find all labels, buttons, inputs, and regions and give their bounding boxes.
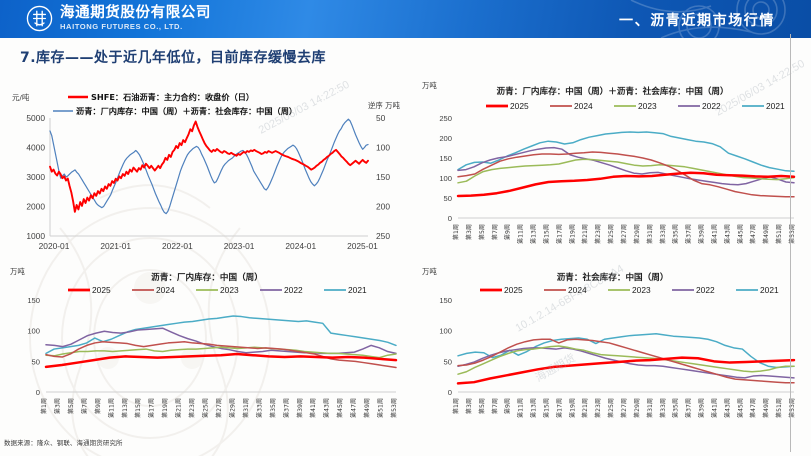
svg-text:第41周: 第41周 — [309, 398, 317, 418]
svg-text:2023: 2023 — [632, 285, 651, 295]
svg-text:第11周: 第11周 — [517, 224, 525, 244]
svg-text:100: 100 — [376, 143, 390, 153]
svg-text:沥青：厂内库存：中国（周）: 沥青：厂内库存：中国（周） — [151, 271, 263, 283]
svg-text:第11周: 第11周 — [517, 398, 525, 418]
svg-text:第19周: 第19周 — [568, 224, 576, 244]
svg-text:第43周: 第43周 — [323, 398, 331, 418]
svg-text:第5周: 第5周 — [478, 224, 486, 240]
svg-text:第9周: 第9周 — [504, 224, 512, 240]
svg-text:2021-01: 2021-01 — [100, 241, 131, 251]
svg-text:第1周: 第1周 — [452, 224, 460, 240]
svg-text:第15周: 第15周 — [542, 398, 550, 418]
svg-text:第39周: 第39周 — [296, 398, 304, 418]
svg-text:第17周: 第17周 — [148, 398, 156, 418]
svg-text:第15周: 第15周 — [134, 398, 142, 418]
svg-text:150: 150 — [439, 154, 452, 163]
svg-text:第51周: 第51周 — [775, 224, 783, 244]
svg-text:海通期货: 海通期货 — [533, 350, 578, 384]
svg-text:2020-01: 2020-01 — [39, 241, 70, 251]
svg-text:第47周: 第47周 — [350, 398, 358, 418]
svg-text:第25周: 第25周 — [607, 224, 615, 244]
section-title: 一、沥青近期市场行情 — [619, 10, 775, 30]
app-header: 海通期货股份有限公司 HAITONG FUTURES CO., LTD. 一、沥… — [0, 0, 811, 38]
svg-text:第3周: 第3周 — [465, 398, 473, 414]
svg-text:第51周: 第51周 — [775, 398, 783, 418]
company-logo: 海通期货股份有限公司 HAITONG FUTURES CO., LTD. — [26, 5, 211, 32]
svg-text:逆序 万吨: 逆序 万吨 — [368, 101, 401, 110]
svg-text:200: 200 — [439, 134, 452, 143]
svg-text:第13周: 第13周 — [530, 398, 538, 418]
svg-text:第9周: 第9周 — [94, 398, 102, 414]
svg-text:第41周: 第41周 — [710, 398, 718, 418]
svg-text:150: 150 — [376, 172, 390, 182]
svg-text:2022: 2022 — [284, 285, 303, 295]
chart-total-inventory: 万吨沥青：厂内库存：中国（周）＋沥青：社会库存：中国（周）20252024202… — [418, 76, 808, 258]
svg-text:第1周: 第1周 — [40, 398, 48, 414]
svg-text:2023: 2023 — [220, 285, 239, 295]
svg-text:250: 250 — [439, 114, 452, 123]
svg-text:第43周: 第43周 — [723, 224, 731, 244]
svg-text:第31周: 第31周 — [646, 398, 654, 418]
svg-text:2000: 2000 — [26, 202, 45, 212]
logo-company-name-cn: 海通期货股份有限公司 — [60, 6, 211, 21]
svg-text:2021: 2021 — [766, 101, 785, 111]
svg-text:第1周: 第1周 — [452, 398, 460, 414]
svg-text:第21周: 第21周 — [581, 224, 589, 244]
svg-text:2025: 2025 — [92, 285, 111, 295]
svg-text:5000: 5000 — [26, 113, 45, 123]
svg-text:第49周: 第49周 — [363, 398, 371, 418]
svg-text:第27周: 第27周 — [215, 398, 223, 418]
svg-text:第17周: 第17周 — [555, 398, 563, 418]
chart-price-vs-inventory: 元/吨逆序 万吨SHFE：石油沥青：主力合约：收盘价（日）沥青：厂内库存：中国（… — [6, 86, 418, 258]
right-border-line — [790, 34, 791, 452]
svg-text:第3周: 第3周 — [53, 398, 61, 414]
svg-text:2023-01: 2023-01 — [224, 241, 255, 251]
svg-text:SHFE：石油沥青：主力合约：收盘价（日）: SHFE：石油沥青：主力合约：收盘价（日） — [91, 92, 254, 102]
svg-text:第45周: 第45周 — [736, 398, 744, 418]
svg-text:沥青：厂内库存：中国（周）＋沥青：社会库存：中国（周）: 沥青：厂内库存：中国（周）＋沥青：社会库存：中国（周） — [76, 106, 297, 116]
svg-text:2025-01: 2025-01 — [347, 241, 378, 251]
svg-text:沥青：厂内库存：中国（周）＋沥青：社会库存：中国（周）: 沥青：厂内库存：中国（周）＋沥青：社会库存：中国（周） — [497, 85, 729, 97]
svg-text:第27周: 第27周 — [620, 224, 628, 244]
svg-text:第17周: 第17周 — [555, 224, 563, 244]
svg-text:第37周: 第37周 — [685, 398, 693, 418]
svg-text:0: 0 — [448, 388, 452, 397]
svg-text:第43周: 第43周 — [723, 398, 731, 418]
svg-text:第25周: 第25周 — [607, 398, 615, 418]
svg-text:第11周: 第11周 — [107, 398, 115, 418]
svg-text:万吨: 万吨 — [422, 267, 437, 276]
svg-text:第29周: 第29周 — [633, 224, 641, 244]
svg-text:2025: 2025 — [504, 285, 523, 295]
svg-text:第23周: 第23周 — [188, 398, 196, 418]
svg-text:2023: 2023 — [638, 101, 657, 111]
svg-text:第37周: 第37周 — [685, 224, 693, 244]
svg-text:2024: 2024 — [156, 285, 175, 295]
svg-text:第7周: 第7周 — [80, 398, 88, 414]
slide-title: 7.库存——处于近几年低位，目前库存缓慢去库 — [20, 47, 326, 67]
svg-text:第23周: 第23周 — [594, 224, 602, 244]
chart-social-inventory: 万吨沥青：社会库存：中国（周）2025202420232022202105010… — [418, 262, 808, 438]
logo-company-name-en: HAITONG FUTURES CO., LTD. — [60, 23, 211, 31]
svg-text:0: 0 — [448, 214, 452, 223]
svg-text:3000: 3000 — [26, 172, 45, 182]
svg-text:50: 50 — [32, 357, 40, 366]
svg-text:第19周: 第19周 — [161, 398, 169, 418]
svg-text:50: 50 — [376, 113, 386, 123]
svg-text:4000: 4000 — [26, 143, 45, 153]
svg-text:万吨: 万吨 — [10, 267, 25, 276]
svg-text:第39周: 第39周 — [698, 398, 706, 418]
svg-text:1000: 1000 — [26, 231, 45, 241]
svg-text:50: 50 — [444, 357, 452, 366]
svg-text:0: 0 — [36, 388, 40, 397]
svg-text:第41周: 第41周 — [710, 224, 718, 244]
svg-text:50: 50 — [444, 194, 452, 203]
haitong-circular-emblem-icon — [26, 5, 53, 32]
svg-text:250: 250 — [376, 231, 390, 241]
svg-text:第39周: 第39周 — [698, 224, 706, 244]
svg-text:2022: 2022 — [696, 285, 715, 295]
svg-text:第27周: 第27周 — [620, 398, 628, 418]
svg-text:第5周: 第5周 — [478, 398, 486, 414]
svg-text:100: 100 — [439, 174, 452, 183]
svg-text:第35周: 第35周 — [672, 224, 680, 244]
svg-text:第49周: 第49周 — [762, 398, 770, 418]
svg-text:第53周: 第53周 — [390, 398, 398, 418]
svg-text:第25周: 第25周 — [202, 398, 210, 418]
svg-text:第19周: 第19周 — [568, 398, 576, 418]
svg-text:第35周: 第35周 — [269, 398, 277, 418]
svg-text:第47周: 第47周 — [749, 224, 757, 244]
svg-text:第45周: 第45周 — [736, 224, 744, 244]
svg-text:第33周: 第33周 — [659, 398, 667, 418]
svg-text:第51周: 第51周 — [377, 398, 385, 418]
svg-text:第49周: 第49周 — [762, 224, 770, 244]
svg-text:2025: 2025 — [510, 101, 529, 111]
data-source-note: 数据来源：隆众、钢联、海通期货研究所 — [4, 438, 123, 447]
svg-text:第33周: 第33周 — [255, 398, 263, 418]
svg-text:150: 150 — [27, 296, 40, 305]
svg-text:第29周: 第29周 — [633, 398, 641, 418]
svg-text:2022-01: 2022-01 — [162, 241, 193, 251]
svg-text:第13周: 第13周 — [121, 398, 129, 418]
svg-text:第21周: 第21周 — [581, 398, 589, 418]
svg-text:第15周: 第15周 — [542, 224, 550, 244]
svg-text:第3周: 第3周 — [465, 224, 473, 240]
svg-text:第13周: 第13周 — [530, 224, 538, 244]
svg-text:第23周: 第23周 — [594, 398, 602, 418]
svg-text:元/吨: 元/吨 — [12, 93, 30, 102]
svg-text:150: 150 — [439, 296, 452, 305]
svg-text:第31周: 第31周 — [242, 398, 250, 418]
svg-text:第37周: 第37周 — [282, 398, 290, 418]
svg-text:100: 100 — [439, 327, 452, 336]
svg-text:第33周: 第33周 — [659, 224, 667, 244]
svg-text:万吨: 万吨 — [422, 81, 437, 90]
svg-text:第21周: 第21周 — [175, 398, 183, 418]
chart-plant-inventory: 万吨沥青：厂内库存：中国（周）2025202420232022202105010… — [6, 262, 410, 438]
svg-text:100: 100 — [27, 327, 40, 336]
svg-text:第7周: 第7周 — [491, 224, 499, 240]
svg-text:第9周: 第9周 — [504, 398, 512, 414]
svg-text:第7周: 第7周 — [491, 398, 499, 414]
svg-text:2021: 2021 — [760, 285, 779, 295]
svg-text:第35周: 第35周 — [672, 398, 680, 418]
svg-text:200: 200 — [376, 202, 390, 212]
svg-text:2024: 2024 — [574, 101, 593, 111]
svg-text:第47周: 第47周 — [749, 398, 757, 418]
svg-text:第31周: 第31周 — [646, 224, 654, 244]
svg-text:2024-01: 2024-01 — [285, 241, 316, 251]
svg-text:第45周: 第45周 — [336, 398, 344, 418]
svg-text:第5周: 第5周 — [67, 398, 75, 414]
slide-root: 海通期货股份有限公司 HAITONG FUTURES CO., LTD. 一、沥… — [0, 0, 811, 456]
svg-text:2021: 2021 — [348, 285, 367, 295]
svg-text:第29周: 第29周 — [228, 398, 236, 418]
